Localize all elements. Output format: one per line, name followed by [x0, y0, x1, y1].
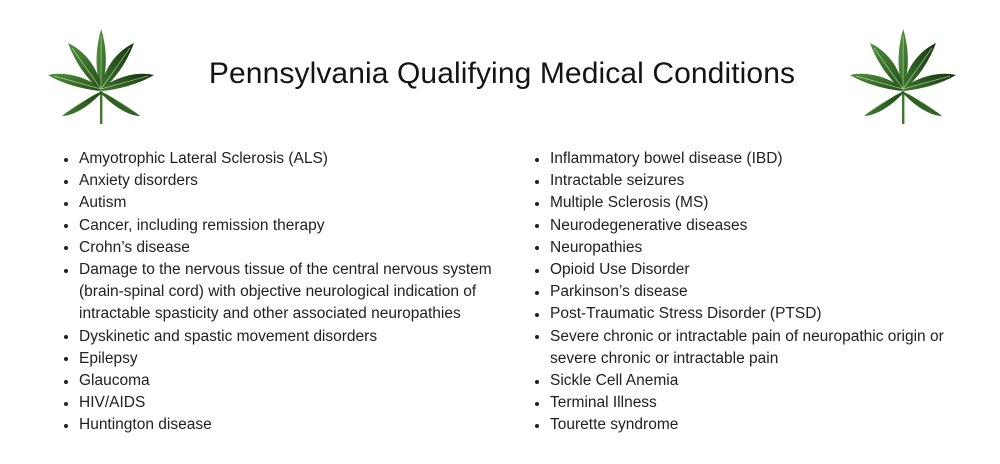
- list-item: Parkinson’s disease: [531, 281, 982, 303]
- list-item: Anxiety disorders: [60, 170, 494, 192]
- list-item: Severe chronic or intractable pain of ne…: [531, 326, 982, 370]
- list-item: Terminal Illness: [531, 392, 982, 414]
- list-item: Dyskinetic and spastic movement disorder…: [60, 326, 494, 348]
- list-item: Autism: [60, 192, 494, 214]
- list-item: Neuropathies: [531, 237, 982, 259]
- list-item: Epilepsy: [60, 348, 494, 370]
- conditions-column-right: Inflammatory bowel disease (IBD) Intract…: [500, 148, 1000, 437]
- list-item: Multiple Sclerosis (MS): [531, 192, 982, 214]
- list-item: HIV/AIDS: [60, 392, 494, 414]
- page-title: Pennsylvania Qualifying Medical Conditio…: [162, 55, 842, 93]
- list-item: Crohn’s disease: [60, 237, 494, 259]
- cannabis-leaf-icon-left: [45, 26, 157, 126]
- conditions-columns: Amyotrophic Lateral Sclerosis (ALS) Anxi…: [0, 148, 1000, 437]
- conditions-list-right: Inflammatory bowel disease (IBD) Intract…: [531, 148, 982, 437]
- list-item: Damage to the nervous tissue of the cent…: [60, 259, 494, 326]
- slide-header: Pennsylvania Qualifying Medical Conditio…: [0, 0, 1000, 135]
- list-item: Post-Traumatic Stress Disorder (PTSD): [531, 303, 982, 325]
- list-item: Intractable seizures: [531, 170, 982, 192]
- list-item: Inflammatory bowel disease (IBD): [531, 148, 982, 170]
- list-item: Tourette syndrome: [531, 414, 982, 436]
- list-item: Opioid Use Disorder: [531, 259, 982, 281]
- cannabis-leaf-icon-right: [847, 26, 959, 126]
- list-item: Cancer, including remission therapy: [60, 215, 494, 237]
- list-item: Huntington disease: [60, 414, 494, 436]
- list-item: Glaucoma: [60, 370, 494, 392]
- conditions-column-left: Amyotrophic Lateral Sclerosis (ALS) Anxi…: [0, 148, 500, 437]
- list-item: Neurodegenerative diseases: [531, 215, 982, 237]
- list-item: Amyotrophic Lateral Sclerosis (ALS): [60, 148, 494, 170]
- list-item: Sickle Cell Anemia: [531, 370, 982, 392]
- conditions-list-left: Amyotrophic Lateral Sclerosis (ALS) Anxi…: [60, 148, 494, 437]
